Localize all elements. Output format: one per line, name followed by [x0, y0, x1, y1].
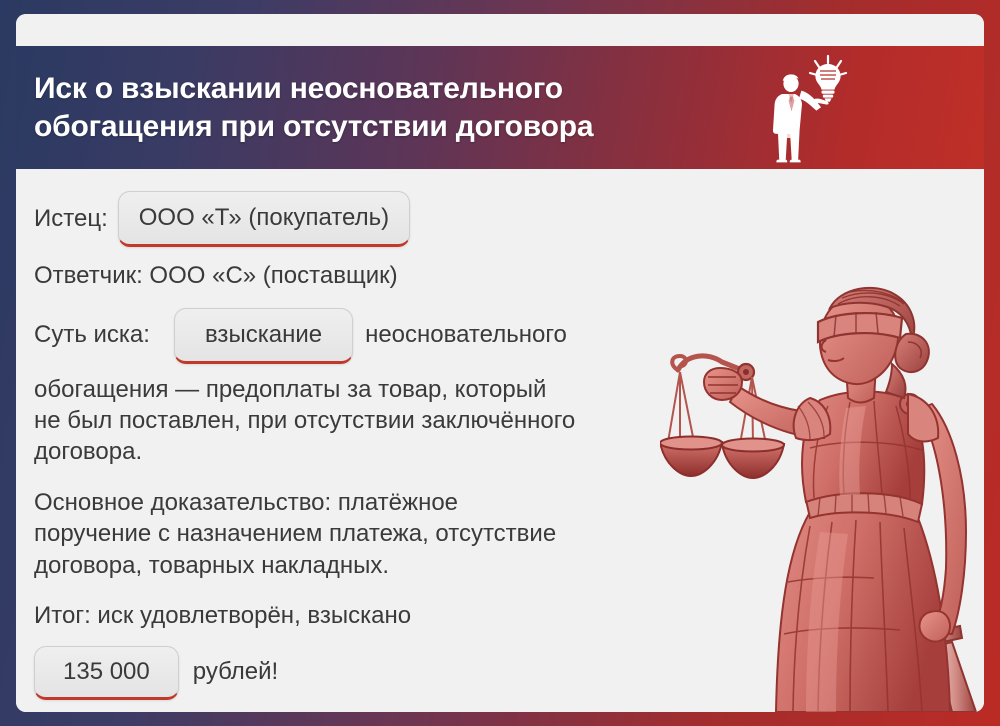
plaintiff-value-highlight[interactable]: ООО «Т» (покупатель): [118, 191, 410, 247]
evidence-text: Основное доказательство: платёжное поруч…: [34, 487, 962, 581]
page-title: Иск о взыскании неосновательного обогаще…: [34, 70, 758, 146]
currency-label: рублей!: [193, 657, 278, 688]
defendant-row: Ответчик: ООО «С» (поставщик): [34, 261, 962, 292]
result-lead-row: Итог: иск удовлетворён, взыскано: [34, 601, 962, 632]
claim-row: Суть иска: взыскание неосновательного: [34, 308, 962, 364]
claim-tail: неосновательного: [365, 320, 567, 351]
result-lead: Итог: иск удовлетворён, взыскано: [34, 601, 411, 632]
plaintiff-label: Истец:: [34, 204, 108, 235]
claim-highlight[interactable]: взыскание: [174, 308, 353, 364]
top-strip: [16, 14, 984, 46]
businessman-with-lightbulb-icon: [758, 53, 854, 163]
header-band: Иск о взыскании неосновательного обогаще…: [16, 46, 984, 169]
claim-label: Суть иска:: [34, 320, 150, 351]
plaintiff-row: Истец: ООО «Т» (покупатель): [34, 191, 962, 247]
infographic-card: Иск о взыскании неосновательного обогаще…: [0, 0, 1000, 726]
result-amount-row: 135 000 рублей!: [34, 646, 962, 700]
amount-highlight[interactable]: 135 000: [34, 646, 179, 700]
claim-continuation: обогащения — предоплаты за товар, которы…: [34, 374, 962, 468]
defendant-line: Ответчик: ООО «С» (поставщик): [34, 261, 398, 292]
body-content: Истец: ООО «Т» (покупатель) Ответчик: ОО…: [16, 169, 984, 712]
inner-panel: Иск о взыскании неосновательного обогаще…: [16, 14, 984, 712]
